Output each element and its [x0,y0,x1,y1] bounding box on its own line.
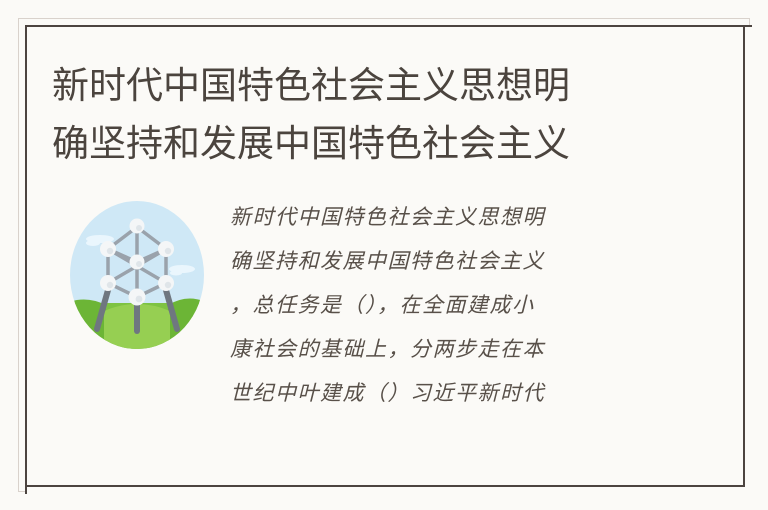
article-body-text: 新时代中国特色社会主义思想明 确坚持和发展中国特色社会主义 ，总任务是（），在全… [230,195,712,415]
article-content: 新时代中国特色社会主义思想明 确坚持和发展中国特色社会主义 [25,25,752,494]
article-thumbnail[interactable] [66,199,208,351]
page-title: 新时代中国特色社会主义思想明 确坚持和发展中国特色社会主义 [52,57,712,173]
article-body-row: 新时代中国特色社会主义思想明 确坚持和发展中国特色社会主义 ，总任务是（），在全… [52,195,712,415]
atomium-monument-illustration [66,199,208,351]
